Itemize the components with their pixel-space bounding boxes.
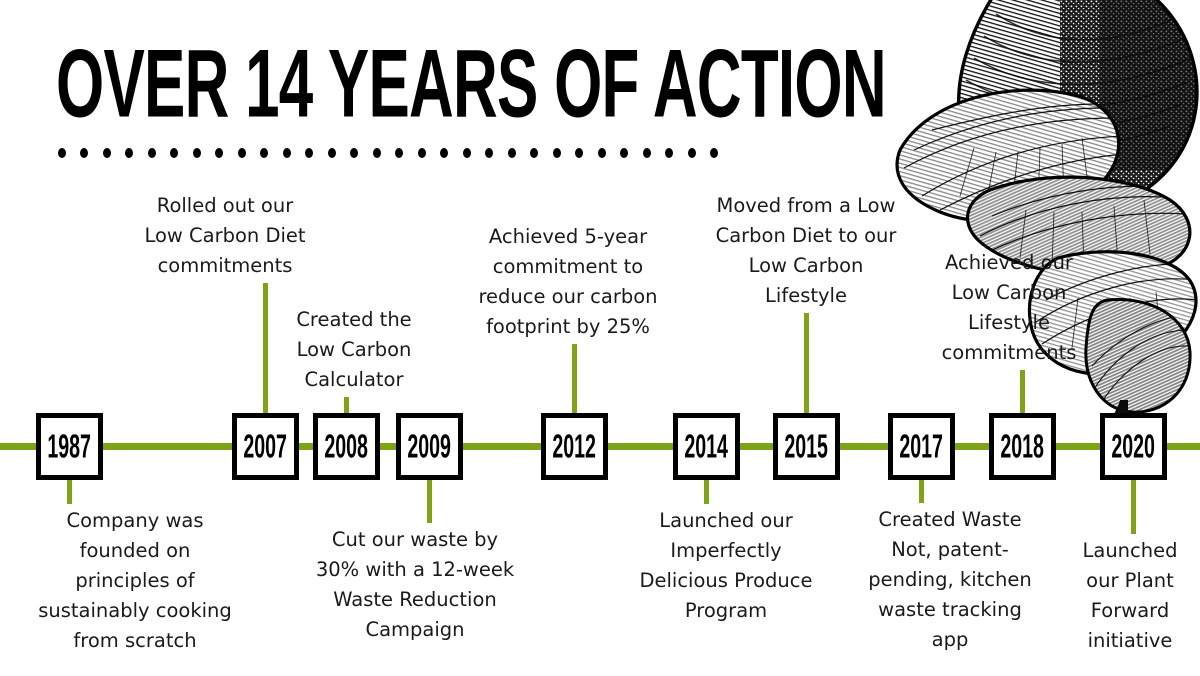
timeline-caption-2018: Achieved our Low Carbon Lifestyle commit… bbox=[920, 248, 1098, 368]
divider-dot bbox=[440, 148, 448, 158]
timeline-year-label: 2014 bbox=[685, 430, 729, 463]
divider-dot bbox=[643, 148, 651, 158]
timeline-year-box-2012[interactable]: 2012 bbox=[541, 413, 608, 480]
divider-dot bbox=[148, 148, 156, 158]
timeline-caption-2014: Launched our Imperfectly Delicious Produ… bbox=[620, 506, 832, 626]
divider-dot bbox=[418, 148, 426, 158]
timeline-year-box-2007[interactable]: 2007 bbox=[232, 413, 299, 480]
divider-dot bbox=[710, 148, 718, 158]
divider-dot bbox=[485, 148, 493, 158]
timeline-year-box-2009[interactable]: 2009 bbox=[396, 413, 463, 480]
timeline-stem-1987 bbox=[67, 480, 72, 504]
divider-dot bbox=[80, 148, 88, 158]
timeline-year-label: 1987 bbox=[48, 430, 92, 463]
divider-dot bbox=[598, 148, 606, 158]
timeline-year-box-2018[interactable]: 2018 bbox=[989, 413, 1056, 480]
divider-dot bbox=[463, 148, 471, 158]
timeline-stem-2015 bbox=[804, 313, 809, 413]
timeline-stem-2018 bbox=[1020, 370, 1025, 413]
divider-dot bbox=[283, 148, 291, 158]
timeline-stem-2012 bbox=[572, 344, 577, 413]
timeline-stem-2020 bbox=[1131, 480, 1136, 534]
timeline-caption-2009: Cut our waste by 30% with a 12-week Wast… bbox=[290, 525, 540, 645]
divider-dot bbox=[350, 148, 358, 158]
timeline-year-box-2014[interactable]: 2014 bbox=[673, 413, 740, 480]
divider-dot bbox=[508, 148, 516, 158]
timeline-stem-2008 bbox=[344, 397, 349, 413]
timeline-year-label: 2020 bbox=[1112, 430, 1156, 463]
timeline-year-box-2015[interactable]: 2015 bbox=[773, 413, 840, 480]
divider-dot bbox=[58, 148, 66, 158]
timeline-year-label: 2017 bbox=[900, 430, 944, 463]
divider-dot bbox=[620, 148, 628, 158]
divider-dot bbox=[238, 148, 246, 158]
timeline-caption-2008: Created the Low Carbon Calculator bbox=[266, 305, 442, 395]
infographic-canvas: OVER 14 YEARS OF ACTION bbox=[0, 0, 1200, 676]
timeline-caption-2017: Created Waste Not, patent- pending, kitc… bbox=[852, 505, 1048, 655]
divider-dot bbox=[103, 148, 111, 158]
divider-dot bbox=[215, 148, 223, 158]
timeline-year-label: 2012 bbox=[553, 430, 597, 463]
divider-dot bbox=[665, 148, 673, 158]
timeline-year-label: 2018 bbox=[1001, 430, 1045, 463]
divider-dot bbox=[260, 148, 268, 158]
timeline-year-box-2008[interactable]: 2008 bbox=[313, 413, 380, 480]
divider-dot bbox=[553, 148, 561, 158]
divider-dot bbox=[688, 148, 696, 158]
timeline-stem-2014 bbox=[704, 480, 709, 504]
timeline-caption-2007: Rolled out our Low Carbon Diet commitmen… bbox=[110, 191, 340, 281]
divider-dot bbox=[193, 148, 201, 158]
divider-dot bbox=[170, 148, 178, 158]
timeline-year-label: 2008 bbox=[325, 430, 369, 463]
timeline-year-box-2020[interactable]: 2020 bbox=[1100, 413, 1167, 480]
page-title: OVER 14 YEARS OF ACTION bbox=[56, 36, 886, 132]
timeline-stem-2017 bbox=[919, 480, 924, 503]
divider-dot bbox=[373, 148, 381, 158]
timeline-caption-1987: Company was founded on principles of sus… bbox=[20, 506, 250, 656]
dotted-divider bbox=[58, 148, 718, 160]
timeline-year-label: 2015 bbox=[785, 430, 829, 463]
divider-dot bbox=[328, 148, 336, 158]
divider-dot bbox=[575, 148, 583, 158]
divider-dot bbox=[530, 148, 538, 158]
timeline-year-box-1987[interactable]: 1987 bbox=[36, 413, 103, 480]
divider-dot bbox=[305, 148, 313, 158]
timeline-stem-2009 bbox=[427, 480, 432, 523]
timeline-year-box-2017[interactable]: 2017 bbox=[888, 413, 955, 480]
timeline-caption-2012: Achieved 5-year commitment to reduce our… bbox=[452, 222, 684, 342]
timeline-caption-2020: Launched our Plant Forward initiative bbox=[1068, 536, 1192, 656]
timeline-year-label: 2009 bbox=[408, 430, 452, 463]
divider-dot bbox=[125, 148, 133, 158]
timeline-caption-2015: Moved from a Low Carbon Diet to our Low … bbox=[688, 191, 924, 311]
timeline-year-label: 2007 bbox=[244, 430, 288, 463]
divider-dot bbox=[395, 148, 403, 158]
